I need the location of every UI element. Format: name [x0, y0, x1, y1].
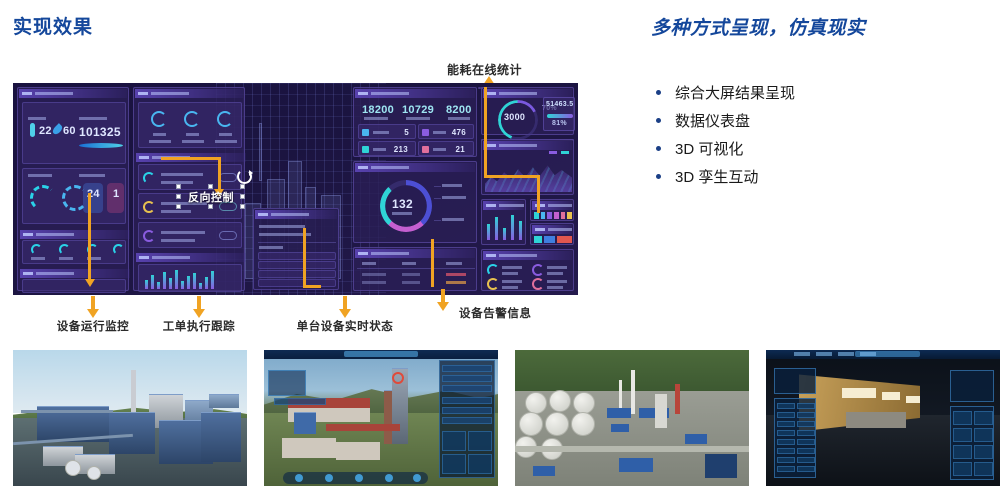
leader-line: [434, 186, 441, 187]
mini-ring: [184, 111, 200, 127]
kpi-pressure: 101325: [79, 125, 121, 139]
hud-title: [344, 351, 419, 357]
card-metric: [22, 240, 126, 264]
card-label: [28, 174, 52, 177]
mini-ring: [217, 111, 233, 127]
building: [607, 408, 631, 418]
tank: [65, 460, 81, 476]
list-item: 数据仪表盘: [652, 106, 992, 134]
production-stat-1: 5: [404, 128, 409, 137]
panel-region-bars: [481, 199, 526, 245]
mini-ring: [532, 264, 544, 276]
hud-left-card[interactable]: [268, 370, 306, 396]
photo-canvas: [515, 350, 749, 486]
resize-handle-w[interactable]: [176, 194, 181, 199]
card-label: [433, 131, 446, 134]
hud-menu-item[interactable]: [274, 398, 326, 405]
building: [619, 458, 653, 472]
bullet-dot-icon: [656, 174, 661, 179]
stat-tile: 213: [358, 141, 416, 156]
status-badge: [219, 231, 237, 240]
factory-roof: [326, 424, 400, 431]
annotation-line: [537, 175, 540, 213]
resize-handle-s[interactable]: [208, 204, 213, 209]
card-metric: [22, 279, 126, 293]
mini-ring: [487, 264, 499, 276]
building: [611, 424, 629, 432]
list-item-label: 数据仪表盘: [675, 110, 750, 131]
table-header-cell: [362, 262, 376, 265]
photo-plant-3d[interactable]: [13, 350, 247, 486]
nav-item[interactable]: [794, 352, 810, 356]
energy-total-value: 51463.5: [546, 101, 573, 108]
panel-production: 18200 10729 8200 5 476 213: [353, 87, 477, 157]
hud-map-card[interactable]: [950, 370, 994, 402]
list-item: 3D 孪生互动: [652, 162, 992, 190]
window: [906, 396, 920, 403]
resize-handle-n[interactable]: [208, 184, 213, 189]
progress-bar: [547, 114, 573, 118]
loading-dock: [846, 412, 906, 428]
panel-header: [135, 89, 243, 98]
pressure-bar: [79, 143, 123, 148]
list-item-sub: [502, 272, 518, 275]
card-environment: 22 60 101325: [22, 102, 126, 164]
avatar: [143, 230, 155, 242]
flare-stack: [631, 370, 635, 414]
progress-ring: [30, 185, 56, 211]
mini-ring: [31, 244, 42, 255]
production-value-2: 10729: [402, 104, 434, 116]
production-value-3: 8200: [446, 104, 472, 116]
card-label: [59, 257, 73, 260]
table-cell: [362, 273, 386, 276]
panel-header: [355, 163, 475, 172]
mini-ring: [113, 244, 124, 255]
list-item[interactable]: [138, 164, 242, 190]
panel-header: [355, 89, 475, 98]
panel-header: [483, 251, 572, 260]
office-building: [282, 438, 336, 458]
panel-header: [255, 210, 337, 219]
panel-share-distribution: [530, 223, 574, 245]
panel-header: [483, 201, 524, 210]
storage-tank: [525, 392, 547, 414]
divider: [357, 268, 475, 269]
card-order-summary: [138, 102, 242, 148]
production-stat-3: 213: [394, 145, 408, 154]
annotation-line: [218, 157, 221, 191]
avatar: [143, 201, 155, 213]
feature-list: 综合大屏结果呈现 数据仪表盘 3D 可视化 3D 孪生互动: [652, 78, 992, 190]
annotation-line: [303, 285, 321, 288]
callout-arrow-down-icon: [87, 309, 99, 318]
selected-textbox-reverse-control[interactable]: 反向控制: [180, 188, 242, 206]
tile-icon: [362, 146, 369, 153]
tile-icon: [362, 129, 369, 136]
window: [882, 392, 900, 400]
photo-canvas: [766, 350, 1000, 486]
annotation-line: [431, 239, 434, 287]
list-item-label: 3D 可视化: [675, 138, 743, 159]
legend-entry: [442, 184, 462, 187]
list-item[interactable]: [138, 222, 242, 248]
panel-header: [19, 89, 127, 98]
card-label: [219, 133, 232, 136]
callout-arrow-down-icon: [193, 309, 205, 318]
card-label: [79, 174, 105, 177]
legend-entry: [442, 196, 466, 199]
slide-root: 实现效果 多种方式呈现，仿真现实 综合大屏结果呈现 数据仪表盘 3D 可视化 3…: [0, 0, 1000, 498]
card-label: [31, 257, 45, 260]
kpi-humidity: 60: [63, 125, 76, 137]
model-mast: [259, 123, 262, 181]
card-label: [182, 140, 204, 143]
donut-center-value: 132: [392, 197, 413, 211]
table-row: [258, 279, 336, 287]
card-label: [153, 133, 166, 136]
table-row: [258, 270, 336, 278]
storage-tank: [549, 390, 571, 412]
table-cell: [402, 273, 420, 276]
table-row: [258, 261, 336, 269]
annotation-line: [161, 157, 221, 160]
bar-chart: [487, 214, 522, 240]
card-label: [186, 133, 199, 136]
storage-tank: [571, 412, 595, 436]
annotation-line: [484, 175, 540, 178]
nav-item[interactable]: [838, 352, 854, 356]
leader-line: [434, 198, 441, 199]
photo-canvas: [264, 350, 498, 486]
table-header-cell: [446, 262, 462, 265]
hotspot-marker-icon[interactable]: [392, 372, 404, 384]
list-item-sub: [547, 286, 563, 289]
panel-device-list: [481, 249, 574, 291]
table-cell: [362, 281, 386, 284]
hud-gauge-card[interactable]: [774, 368, 816, 394]
panel-device-monitor: 22 60 101325 24 1: [17, 87, 129, 291]
card-label: [79, 117, 107, 120]
process-unit: [655, 394, 667, 428]
resize-handle-se[interactable]: [240, 204, 245, 209]
list-item-label: 3D 孪生互动: [675, 166, 758, 187]
resize-handle-e[interactable]: [240, 194, 245, 199]
panel-energy-total: 51463.5 81%: [543, 97, 575, 131]
tooltip-row: [259, 246, 283, 249]
list-item-sub: [161, 210, 191, 213]
tooltip-row: [259, 225, 305, 228]
legend-entry: [442, 218, 464, 221]
bullet-dot-icon: [656, 118, 661, 123]
status-badge: [219, 173, 237, 182]
divider: [258, 242, 336, 243]
table-row: [258, 252, 336, 260]
card-label: [364, 117, 388, 120]
annotation-line: [88, 193, 91, 281]
stat-tile: 5: [358, 124, 416, 139]
photo-strip: [13, 350, 988, 486]
building: [705, 454, 737, 478]
card-alarm-stats: 24 1: [22, 168, 126, 224]
annotation-line: [303, 228, 306, 288]
building: [201, 412, 241, 462]
table-header-cell: [402, 262, 416, 265]
resize-handle-sw[interactable]: [176, 204, 181, 209]
window: [842, 388, 876, 398]
panel-header: [355, 249, 475, 258]
card-label: [433, 148, 446, 151]
panel-header: [20, 230, 130, 239]
table-cell-alert: [446, 273, 466, 276]
production-value-1: 18200: [362, 104, 394, 116]
energy-percent-2: 81%: [552, 120, 567, 127]
card-label: [406, 117, 430, 120]
list-item-sub: [502, 286, 518, 289]
panel-header: [20, 269, 130, 278]
panel-header: [483, 141, 572, 150]
hud-right-panel[interactable]: [439, 360, 495, 478]
list-item-label: 综合大屏结果呈现: [675, 82, 795, 103]
hud-bottom-nav[interactable]: [283, 472, 428, 484]
building: [685, 434, 707, 444]
color-swatch-row: [534, 236, 572, 243]
table-cell: [402, 281, 420, 284]
model-tooltip-panel: [253, 208, 339, 290]
donut-center-label: [392, 212, 412, 215]
flare-stack: [675, 384, 680, 414]
list-item-label: [547, 266, 567, 269]
list-item-label: [547, 280, 567, 283]
mini-ring: [532, 278, 544, 290]
stat-tile: 21: [418, 141, 474, 156]
tower-support: [384, 390, 392, 444]
equipment: [294, 412, 316, 434]
bullet-dot-icon: [656, 90, 661, 95]
card-label: [215, 140, 237, 143]
photo-night-warehouse-ui[interactable]: [766, 350, 1000, 486]
kpi-temperature: 22: [39, 125, 52, 137]
list-item-label: [161, 173, 203, 176]
stat-tile: 476: [418, 124, 474, 139]
refresh-icon[interactable]: [237, 169, 252, 184]
pipe-rack: [21, 410, 113, 413]
hud-data-table[interactable]: [774, 398, 816, 478]
legend-swatch: [561, 151, 569, 154]
production-stat-2: 476: [452, 128, 466, 137]
list-item: 3D 可视化: [652, 134, 992, 162]
panel-header: [136, 253, 246, 262]
droplet-icon: [51, 123, 64, 136]
photo-digital-twin-ui[interactable]: [264, 350, 498, 486]
callout-label: 设备告警信息: [459, 305, 579, 321]
hud-camera-grid[interactable]: [950, 406, 994, 480]
list-item: 综合大屏结果呈现: [652, 78, 992, 106]
nav-item[interactable]: [816, 352, 832, 356]
card-label: [373, 131, 389, 134]
road: [515, 446, 749, 452]
thermometer-icon: [30, 123, 35, 137]
mini-ring: [151, 111, 167, 127]
resize-handle-ne[interactable]: [240, 184, 245, 189]
area-chart: [485, 154, 572, 192]
list-item-sub: [547, 272, 563, 275]
tile-icon: [422, 146, 429, 153]
nav-item[interactable]: [860, 352, 876, 356]
page-title-left: 实现效果: [13, 12, 93, 39]
mini-ring: [59, 244, 70, 255]
building: [533, 466, 555, 476]
list-item-sub: [161, 239, 195, 242]
office-building: [336, 442, 380, 460]
callout-arrow-down-icon: [437, 302, 449, 311]
annotation-line: [484, 87, 487, 177]
legend-swatch: [549, 151, 557, 154]
color-swatch-row: [534, 212, 572, 219]
list-item-label: [161, 231, 205, 234]
mini-bar-chart: [145, 269, 214, 289]
annotation-arrow-down-icon: [85, 279, 95, 287]
panel-alarm-table: [353, 247, 477, 291]
storage-tank: [573, 392, 595, 414]
card-label: [373, 148, 386, 151]
leader-line: [434, 220, 441, 221]
avatar: [143, 172, 155, 184]
list-item-label: [502, 266, 522, 269]
table-cell-alert: [446, 281, 466, 284]
page-title-right: 多种方式呈现，仿真现实: [651, 13, 866, 40]
list-item-label: [502, 280, 522, 283]
callout-arrow-down-icon: [339, 309, 351, 318]
bullet-dot-icon: [656, 146, 661, 151]
storage-tank: [545, 412, 569, 436]
kpi-alarm-minor: 1: [113, 188, 119, 200]
mini-ring: [487, 278, 499, 290]
card-label: [28, 117, 46, 120]
photo-refinery-aerial[interactable]: [515, 350, 749, 486]
tank: [87, 466, 101, 480]
resize-handle-nw[interactable]: [176, 184, 181, 189]
card-label: [448, 117, 470, 120]
panel-device-analysis: 132: [353, 161, 477, 243]
tile-icon: [422, 129, 429, 136]
photo-canvas: [13, 350, 247, 486]
panel-energy-trend: [481, 139, 574, 195]
building: [209, 394, 239, 408]
callout-label: 单台设备实时状态: [239, 318, 451, 334]
dashboard-screenshot: 22 60 101325 24 1: [13, 83, 578, 295]
card-metric: [138, 264, 242, 292]
production-stat-4: 21: [456, 145, 466, 154]
storage-tank: [519, 412, 543, 436]
panel-header: [532, 225, 572, 234]
hud-top-bar: [766, 350, 1000, 359]
card-label: [149, 140, 171, 143]
